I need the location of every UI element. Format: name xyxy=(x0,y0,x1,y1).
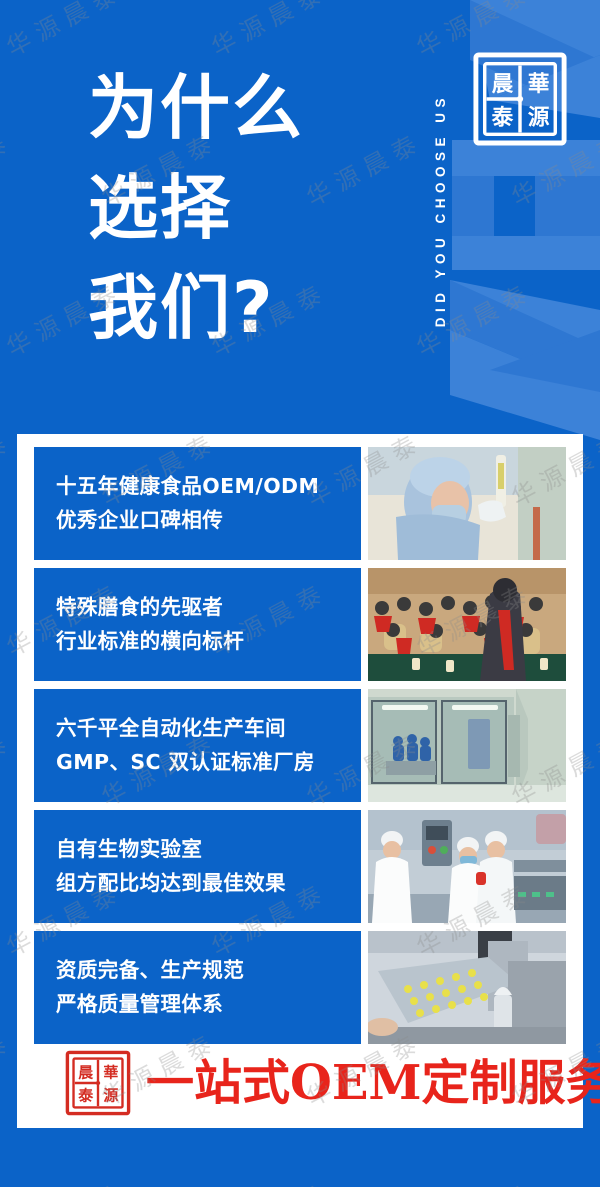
watermark-text: 华源晨泰 xyxy=(0,1022,19,1113)
cta-banner: 晨 泰 華 源 一站式OEM定制服务 xyxy=(34,1045,566,1120)
svg-text:泰: 泰 xyxy=(492,105,514,130)
feature-photo xyxy=(368,810,566,923)
watermark-text: 华源晨泰 xyxy=(0,1172,129,1187)
watermark-text: 华源晨泰 xyxy=(409,1172,538,1187)
feature-row: 十五年健康食品OEM/ODM 优秀企业口碑相传 xyxy=(34,447,566,560)
features-panel: 十五年健康食品OEM/ODM 优秀企业口碑相传 xyxy=(17,434,583,1128)
feature-row: 自有生物实验室 组方配比均达到最佳效果 xyxy=(34,810,566,923)
feature-text-block: 资质完备、生产规范 严格质量管理体系 xyxy=(34,931,361,1044)
watermark-text: 华源晨泰 xyxy=(204,1172,333,1187)
watermark-text: 华源晨泰 xyxy=(204,0,333,63)
watermark-text: 华源晨泰 xyxy=(0,722,19,813)
cta-banner-text: 一站式OEM定制服务 xyxy=(146,1059,600,1107)
feature-photo xyxy=(368,689,566,802)
feature-text-block: 六千平全自动化生产车间 GMP、SC 双认证标准厂房 xyxy=(34,689,361,802)
svg-text:華: 華 xyxy=(528,72,550,97)
feature-text-block: 特殊膳食的先驱者 行业标准的横向标杆 xyxy=(34,568,361,681)
headline-line-2: 选择 xyxy=(88,158,408,258)
feature-text-block: 十五年健康食品OEM/ODM 优秀企业口碑相传 xyxy=(34,447,361,560)
poster-root: DID YOU CHOOSE US 晨 泰 華 源 为什么 选择 我们? xyxy=(0,0,600,1187)
feature-line-2: 严格质量管理体系 xyxy=(56,988,361,1021)
brand-stamp-logo-red: 晨 泰 華 源 xyxy=(64,1049,132,1117)
feature-line-1: 资质完备、生产规范 xyxy=(56,954,361,987)
vertical-tagline: DID YOU CHOOSE US xyxy=(425,10,455,410)
brand-stamp-logo-white: 晨 泰 華 源 xyxy=(471,50,569,148)
feature-photo xyxy=(368,447,566,560)
svg-text:泰: 泰 xyxy=(77,1086,94,1104)
vertical-tagline-text: DID YOU CHOOSE US xyxy=(433,93,448,327)
watermark-text: 华源晨泰 xyxy=(0,0,129,63)
feature-line-2: 优秀企业口碑相传 xyxy=(56,504,361,537)
feature-row: 资质完备、生产规范 严格质量管理体系 xyxy=(34,931,566,1044)
feature-line-1: 自有生物实验室 xyxy=(56,833,361,866)
feature-row: 特殊膳食的先驱者 行业标准的横向标杆 xyxy=(34,568,566,681)
svg-text:源: 源 xyxy=(103,1086,118,1104)
feature-row: 六千平全自动化生产车间 GMP、SC 双认证标准厂房 xyxy=(34,689,566,802)
feature-line-1: 特殊膳食的先驱者 xyxy=(56,591,361,624)
watermark-text: 华源晨泰 xyxy=(0,422,19,513)
feature-line-2: 组方配比均达到最佳效果 xyxy=(56,867,361,900)
feature-line-2: 行业标准的横向标杆 xyxy=(56,625,361,658)
page-title: 为什么 选择 我们? xyxy=(88,58,408,358)
svg-text:華: 華 xyxy=(103,1063,118,1081)
feature-photo xyxy=(368,931,566,1044)
feature-text-block: 自有生物实验室 组方配比均达到最佳效果 xyxy=(34,810,361,923)
features-list: 十五年健康食品OEM/ODM 优秀企业口碑相传 xyxy=(34,447,566,1044)
feature-line-1: 六千平全自动化生产车间 xyxy=(56,712,361,745)
svg-text:晨: 晨 xyxy=(78,1063,94,1081)
watermark-text: 华源晨泰 xyxy=(0,122,19,213)
feature-line-2: GMP、SC 双认证标准厂房 xyxy=(56,746,361,779)
headline-line-3: 我们? xyxy=(88,258,408,358)
headline-line-1: 为什么 xyxy=(88,58,408,158)
svg-text:源: 源 xyxy=(528,105,550,130)
feature-line-1: 十五年健康食品OEM/ODM xyxy=(56,470,361,503)
svg-text:晨: 晨 xyxy=(492,72,514,97)
feature-photo xyxy=(368,568,566,681)
